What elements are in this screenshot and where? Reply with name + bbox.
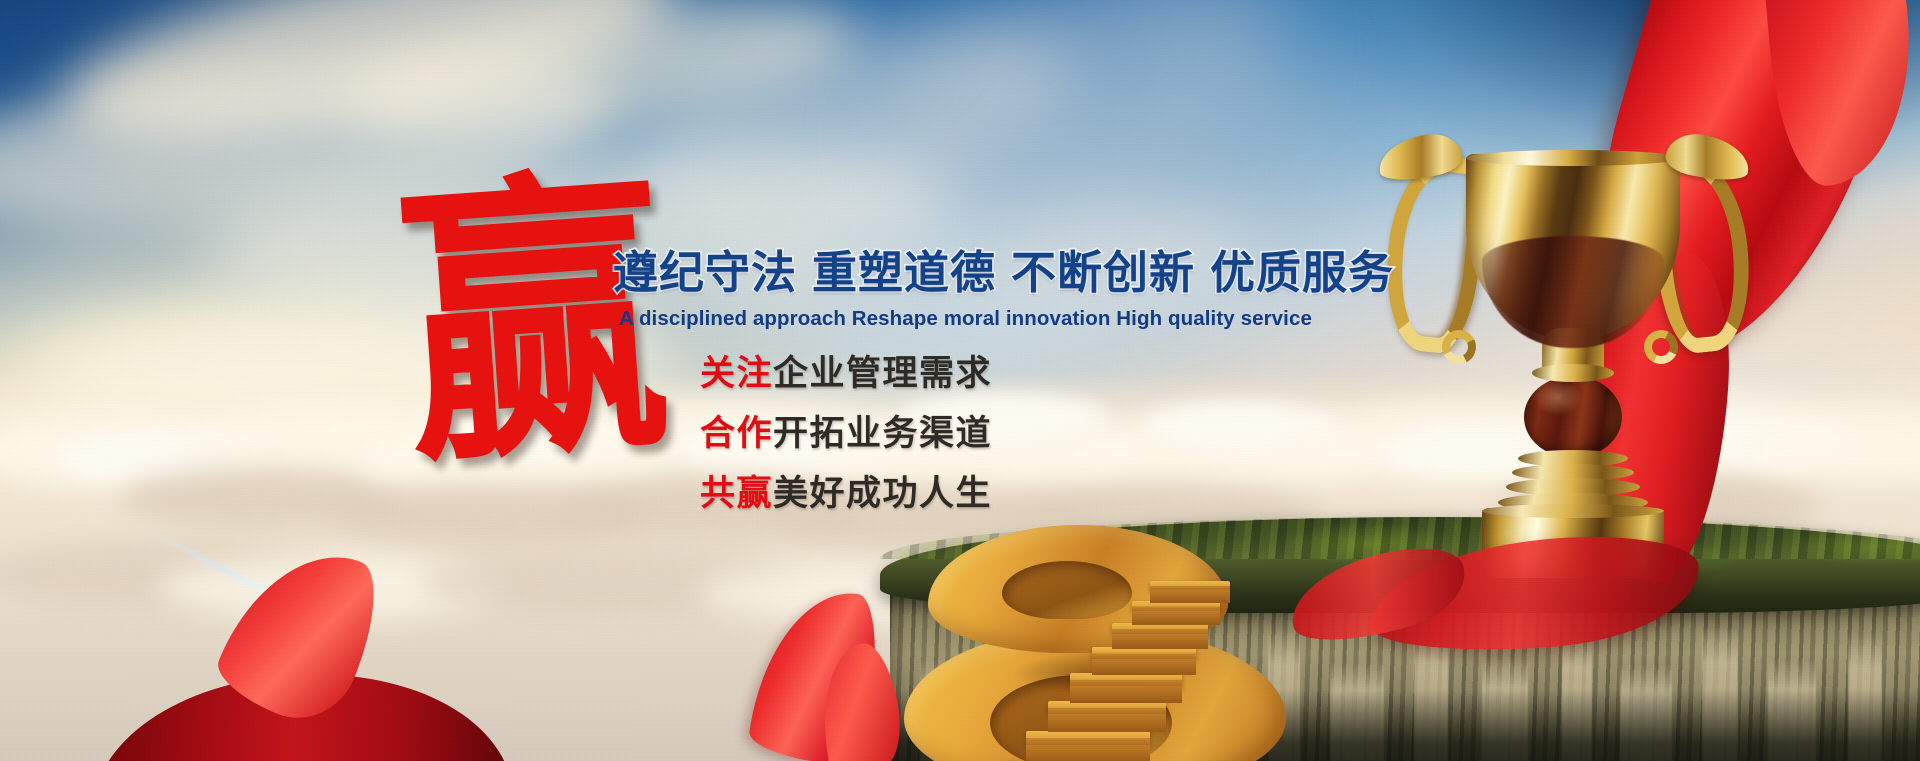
tagline-1: 关注企业管理需求 [700, 345, 992, 396]
trophy-rim [1466, 150, 1680, 166]
tagline-1-accent: 关注 [700, 354, 773, 394]
trophy-sphere [1524, 376, 1622, 458]
tagline-3-accent: 共赢 [700, 474, 773, 514]
subheadline: A disciplined approach Reshape moral inn… [619, 307, 1312, 331]
tagline-3-rest: 美好成功人生 [773, 474, 992, 514]
tagline-2: 合作开拓业务渠道 [700, 405, 992, 456]
tagline-2-accent: 合作 [700, 414, 773, 454]
trophy-base-top [1482, 504, 1664, 518]
tagline-1-rest: 企业管理需求 [773, 354, 992, 394]
headline-segment-1: 遵纪守法 [613, 246, 797, 299]
calligraphy-character: 赢 [393, 165, 653, 488]
tagline-3: 共赢美好成功人生 [700, 465, 992, 516]
headline-segment-3: 不断创新 [1011, 246, 1195, 299]
headline: 遵纪守法重塑道德不断创新优质服务 [613, 236, 1394, 301]
tagline-2-rest: 开拓业务渠道 [773, 414, 992, 454]
headline-segment-4: 优质服务 [1210, 246, 1394, 299]
dollar-sign-staircase [898, 519, 1318, 761]
trophy-collar [1532, 364, 1614, 382]
headline-segment-2: 重塑道德 [812, 246, 996, 299]
promotional-banner: 赢 遵纪守法重塑道德不断创新优质服务 A disciplined approac… [0, 0, 1920, 761]
